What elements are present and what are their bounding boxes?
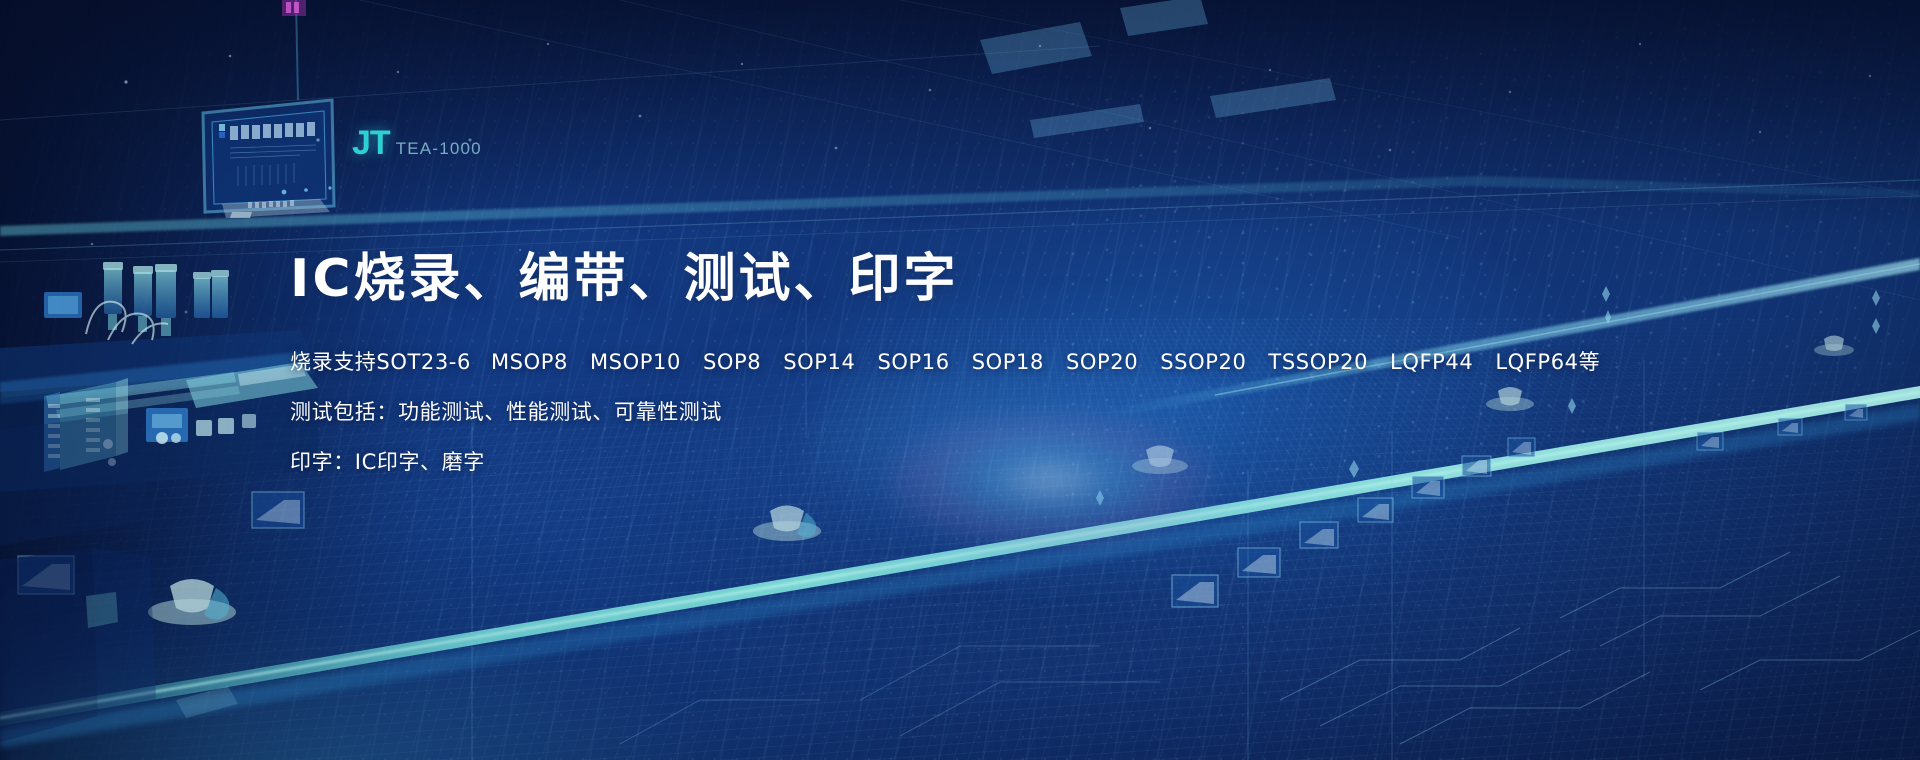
monitor-illustration (203, 0, 334, 218)
package-item: SOP14 (783, 348, 855, 376)
logo-model-text: TEA-1000 (396, 140, 482, 157)
logo-mark-text: JT (352, 126, 390, 160)
subline-testing: 测试包括：功能测试、性能测试、可靠性测试 (290, 398, 1590, 426)
package-item: LQFP64等 (1495, 348, 1600, 376)
package-item: SOP18 (972, 348, 1044, 376)
ic-service-banner: JT TEA-1000 IC烧录、编带、测试、印字 烧录支持SOT23-6MSO… (0, 0, 1920, 760)
subline-marking: 印字：IC印字、磨字 (290, 448, 1590, 476)
package-list: MSOP8MSOP10SOP8SOP14SOP16SOP18SOP20SSOP2… (491, 350, 1600, 374)
package-item: SOP20 (1066, 348, 1138, 376)
package-item: TSSOP20 (1268, 348, 1368, 376)
package-item: LQFP44 (1390, 348, 1473, 376)
banner-content: IC烧录、编带、测试、印字 烧录支持SOT23-6MSOP8MSOP10SOP8… (290, 250, 1590, 477)
banner-sublines: 烧录支持SOT23-6MSOP8MSOP10SOP8SOP14SOP16SOP1… (290, 348, 1590, 477)
package-item: SOP16 (877, 348, 949, 376)
banner-headline: IC烧录、编带、测试、印字 (290, 250, 1590, 310)
package-item: MSOP10 (590, 348, 681, 376)
bottom-left-glow (0, 560, 900, 760)
package-item: MSOP8 (491, 348, 568, 376)
brand-logo: JT TEA-1000 (352, 126, 482, 160)
package-item: SOP8 (703, 348, 761, 376)
subline-burn-packages: 烧录支持SOT23-6MSOP8MSOP10SOP8SOP14SOP16SOP1… (290, 348, 1590, 376)
burn-support-label: 烧录支持SOT23-6 (290, 348, 471, 376)
package-item: SSOP20 (1160, 348, 1246, 376)
